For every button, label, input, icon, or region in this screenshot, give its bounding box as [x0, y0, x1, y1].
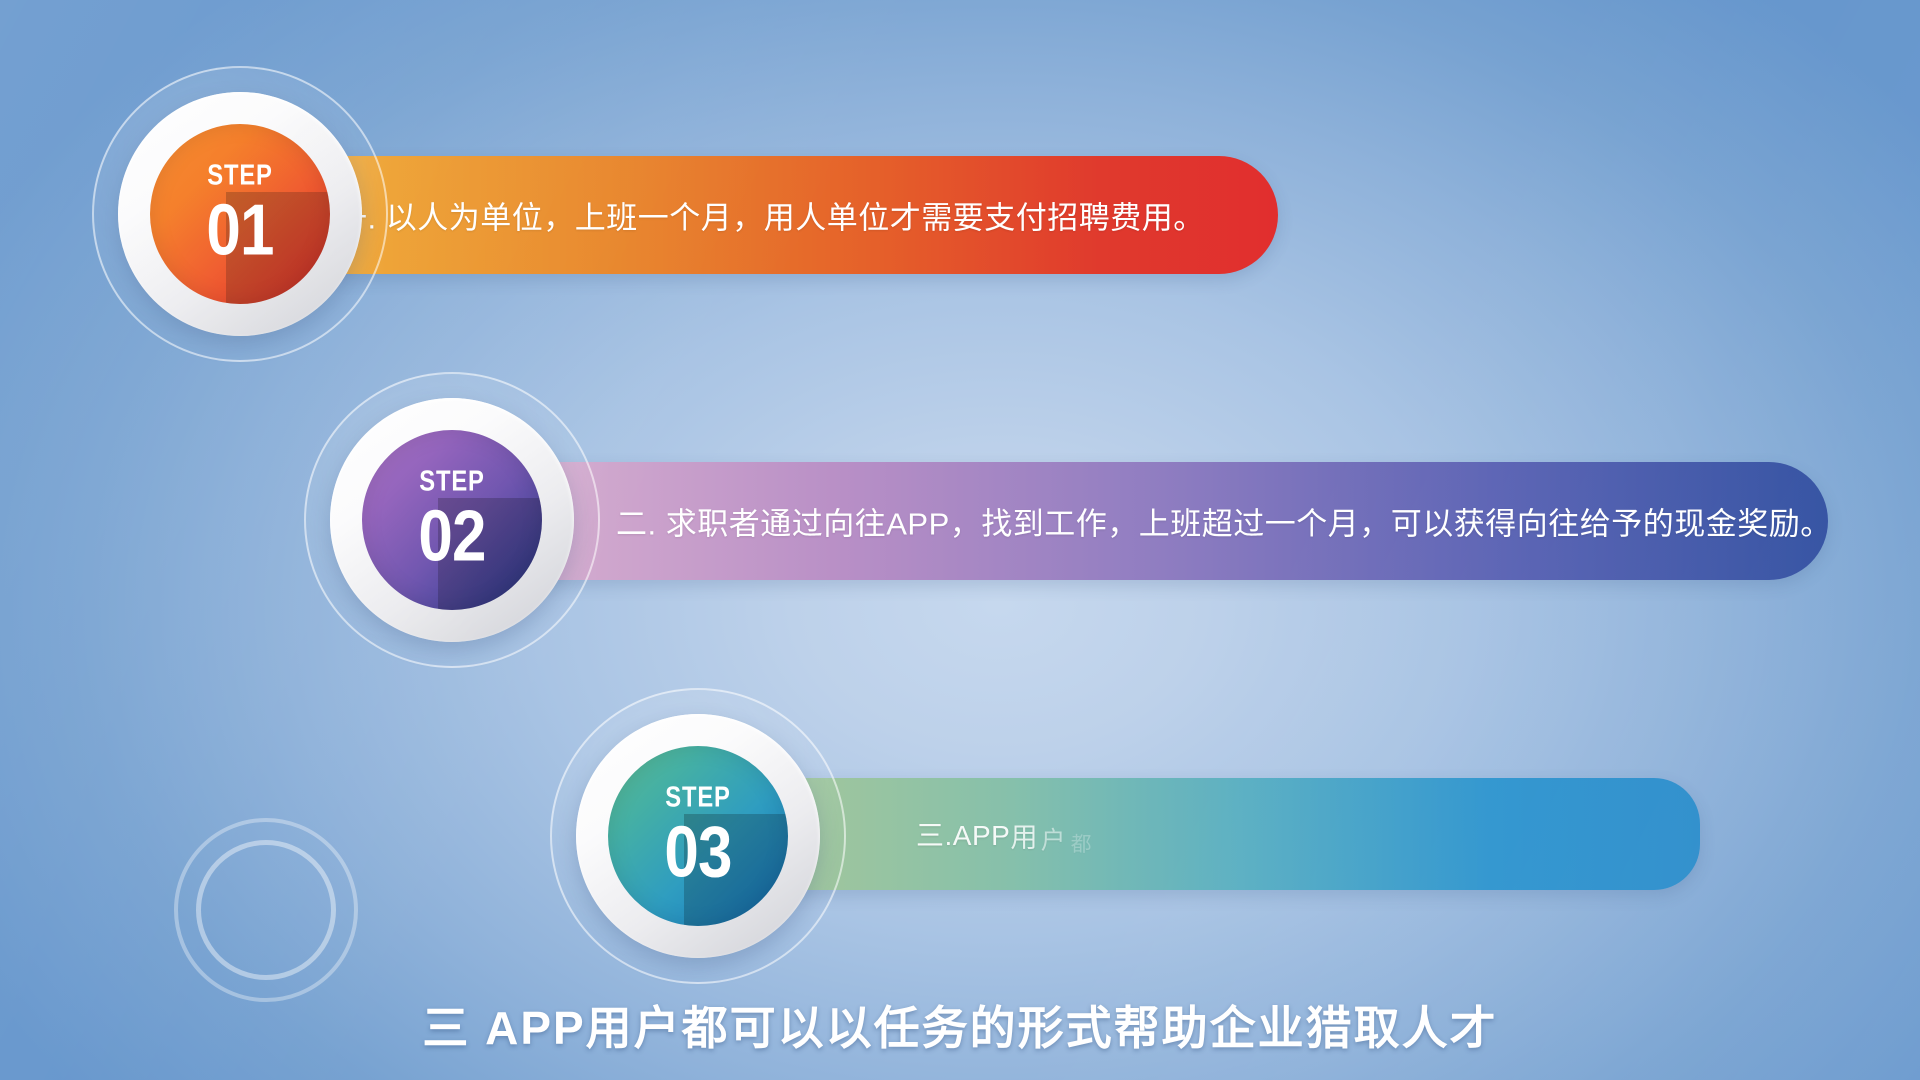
- slide-bottom-title: 三 APP用户都可以以任务的形式帮助企业猎取人才: [0, 992, 1920, 1058]
- step-bar-3-char: 都: [1071, 828, 1092, 858]
- step-bar-3-char: P: [972, 820, 991, 852]
- step-bar-3: 三. APP用户都: [744, 778, 1700, 890]
- decorative-ring-inner: [196, 840, 336, 980]
- step-badge-1[interactable]: STEP 01: [92, 66, 388, 362]
- step-bar-3-char: P: [991, 820, 1010, 852]
- step-badge-2[interactable]: STEP 02: [304, 372, 600, 668]
- step-badge-3-disc: STEP 03: [608, 746, 788, 926]
- step-badge-3[interactable]: STEP 03: [550, 688, 846, 984]
- step-bar-2-text: 二. 求职者通过向往APP，找到工作，上班超过一个月，可以获得向往给予的现金奖励…: [616, 499, 1832, 544]
- step-bar-3-char: 用: [1011, 817, 1039, 856]
- step-badge-2-word: STEP: [378, 468, 526, 497]
- step-bar-3-reveal-text: 三. APP用户都: [916, 814, 1096, 854]
- step-badge-1-disc: STEP 01: [150, 124, 330, 304]
- step-badge-3-number: 03: [621, 817, 776, 889]
- step-bar-1-text: 一. 以人为单位，上班一个月，用人单位才需要支付招聘费用。: [336, 193, 1205, 238]
- step-badge-2-disc: STEP 02: [362, 430, 542, 610]
- step-bar-2: 二. 求职者通过向往APP，找到工作，上班超过一个月，可以获得向往给予的现金奖励…: [498, 462, 1828, 580]
- step-badge-3-label: STEP 03: [608, 784, 788, 889]
- decorative-rings: [174, 818, 358, 1002]
- step-badge-1-label: STEP 01: [150, 162, 330, 267]
- step-bar-3-text: 三. APP用户都: [916, 814, 1096, 854]
- step-badge-3-word: STEP: [624, 784, 772, 813]
- step-badge-2-number: 02: [375, 501, 530, 573]
- step-bar-1: 一. 以人为单位，上班一个月，用人单位才需要支付招聘费用。: [288, 156, 1278, 274]
- step-badge-1-word: STEP: [166, 162, 314, 191]
- step-badge-1-number: 01: [163, 195, 318, 267]
- slide-canvas: 一. 以人为单位，上班一个月，用人单位才需要支付招聘费用。 STEP 01 二.…: [0, 0, 1920, 1080]
- step-bar-3-char: .: [945, 820, 953, 852]
- step-bar-3-char: 户: [1041, 821, 1066, 856]
- step-bar-3-char: 三: [916, 814, 945, 854]
- step-badge-2-label: STEP 02: [362, 468, 542, 573]
- step-bar-3-char: A: [953, 820, 972, 852]
